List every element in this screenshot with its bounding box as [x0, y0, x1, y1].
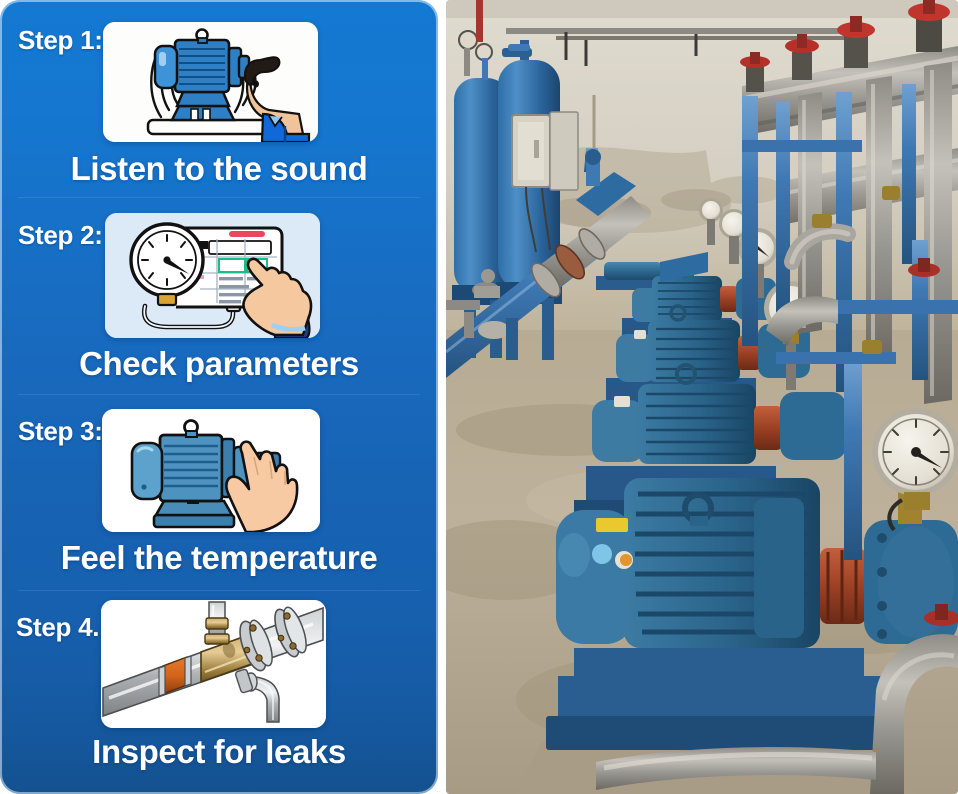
pressure-gauge-and-tablet-with-hand-icon [105, 213, 320, 338]
step-1-card [103, 22, 318, 142]
pump-room-scene [446, 0, 958, 794]
step-4-caption: Inspect for leaks [0, 733, 438, 771]
step-row-4: Step 4. [0, 590, 438, 794]
step-2-card [105, 213, 320, 338]
steps-panel: Step 1: [0, 0, 438, 794]
step-2-caption: Check parameters [0, 345, 438, 383]
step-row-2: Step 2: [0, 198, 438, 396]
step-2-label: Step 2: [18, 220, 103, 251]
step-1-label: Step 1: [18, 25, 103, 56]
infographic-root: Step 1: [0, 0, 958, 794]
pipe-joint-fitting-icon [101, 600, 326, 728]
step-row-3: Step 3: [0, 394, 438, 592]
industrial-pump-room-photograph [446, 0, 958, 794]
step-3-card [102, 409, 320, 532]
step-3-caption: Feel the temperature [0, 539, 438, 577]
step-1-caption: Listen to the sound [0, 150, 438, 188]
motor-with-sound-waves-and-listening-person-icon [103, 22, 318, 142]
step-row-1: Step 1: [0, 0, 438, 198]
step-4-card [101, 600, 326, 728]
step-3-label: Step 3: [18, 416, 103, 447]
step-4-label: Step 4. [16, 612, 99, 643]
motor-with-hand-touching-icon [102, 409, 320, 532]
